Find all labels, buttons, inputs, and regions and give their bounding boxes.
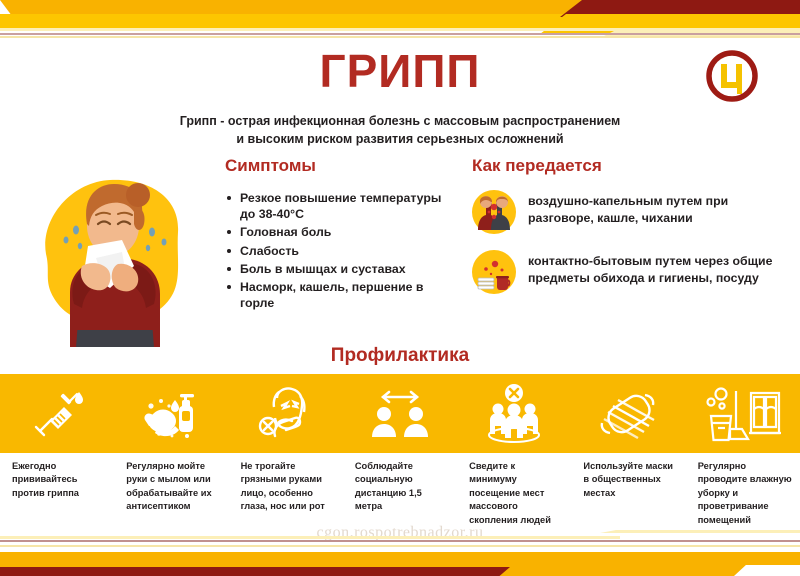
prevention-text: Сведите к минимуму посещение мест массов… xyxy=(457,460,571,527)
bottom-dark-red-bar xyxy=(0,567,510,576)
prevention-text: Регулярно мойте руки с мылом или обрабат… xyxy=(114,460,228,527)
symptom-item: Резкое повышение температуры до 38-40°C xyxy=(225,190,455,222)
bottom-decoration xyxy=(0,526,800,576)
symptom-item: Боль в мышцах и суставах xyxy=(225,261,455,277)
prevention-icon-cell xyxy=(457,374,571,453)
transmission-row: воздушно-капельным путем при разговоре, … xyxy=(472,190,792,234)
subtitle-line-2: и высоким риском развития серьезных осло… xyxy=(100,130,700,148)
syringe-icon xyxy=(27,384,87,444)
bottom-cream-hairline-right xyxy=(600,530,800,533)
transmission-text: воздушно-капельным путем при разговоре, … xyxy=(528,190,792,226)
symptom-item: Головная боль xyxy=(225,224,455,240)
symptoms-section: Симптомы Резкое повышение температуры до… xyxy=(225,156,455,314)
no-touch-face-icon xyxy=(255,384,317,444)
prevention-text-row: Ежегодно прививайтесь против гриппа Регу… xyxy=(0,460,800,527)
infographic-poster: ГРИПП Грипп - острая инфекционная болезн… xyxy=(0,0,800,576)
transmission-heading: Как передается xyxy=(472,156,792,176)
bottom-cream-hairline xyxy=(0,545,800,547)
top-cream-hairline-left xyxy=(0,28,660,31)
bottom-pink-hairline xyxy=(0,540,800,542)
transmission-text: контактно-бытовым путем через общие пред… xyxy=(528,250,792,286)
prevention-icon-cell xyxy=(343,374,457,453)
top-decoration xyxy=(0,0,800,46)
top-pink-hairline xyxy=(0,33,800,35)
cleaning-airing-icon xyxy=(705,383,781,445)
symptom-item: Слабость xyxy=(225,243,455,259)
prevention-text: Соблюдайте социальную дистанцию 1,5 метр… xyxy=(343,460,457,527)
symptom-item: Насморк, кашель, першение в горле xyxy=(225,279,455,311)
symptoms-list: Резкое повышение температуры до 38-40°C … xyxy=(225,190,455,312)
prevention-icon-cell xyxy=(229,374,343,453)
sneezing-woman-illustration xyxy=(18,162,208,347)
prevention-text: Ежегодно прививайтесь против гриппа xyxy=(0,460,114,527)
dishes-cup-icon xyxy=(472,250,516,294)
subtitle-line-1: Грипп - острая инфекционная болезнь с ма… xyxy=(100,112,700,130)
face-mask-icon xyxy=(596,384,662,444)
prevention-icon-cell xyxy=(686,374,800,453)
bottom-cream-hairline-left xyxy=(0,536,620,539)
top-cream-hairline xyxy=(0,36,800,38)
handwash-soap-icon xyxy=(139,384,203,444)
transmission-row: контактно-бытовым путем через общие пред… xyxy=(472,250,792,294)
prevention-text: Не трогайте грязными руками лицо, особен… xyxy=(229,460,343,527)
prevention-icon-cell xyxy=(571,374,685,453)
no-crowd-icon xyxy=(481,383,547,445)
organization-logo-icon xyxy=(704,48,760,104)
prevention-heading: Профилактика xyxy=(0,345,800,367)
prevention-icon-cell xyxy=(0,374,114,453)
prevention-text: Регулярно проводите влажную уборку и про… xyxy=(686,460,800,527)
two-people-talking-icon xyxy=(472,190,516,234)
prevention-text: Используйте маски в общественных местах xyxy=(571,460,685,527)
page-subtitle: Грипп - острая инфекционная болезнь с ма… xyxy=(100,112,700,148)
symptoms-heading: Симптомы xyxy=(225,156,455,176)
prevention-icon-row xyxy=(0,374,800,453)
prevention-icon-cell xyxy=(114,374,228,453)
page-title: ГРИПП xyxy=(0,44,800,98)
transmission-section: Как передается воздушно-капельным путем … xyxy=(472,156,792,310)
social-distance-icon xyxy=(367,385,433,443)
